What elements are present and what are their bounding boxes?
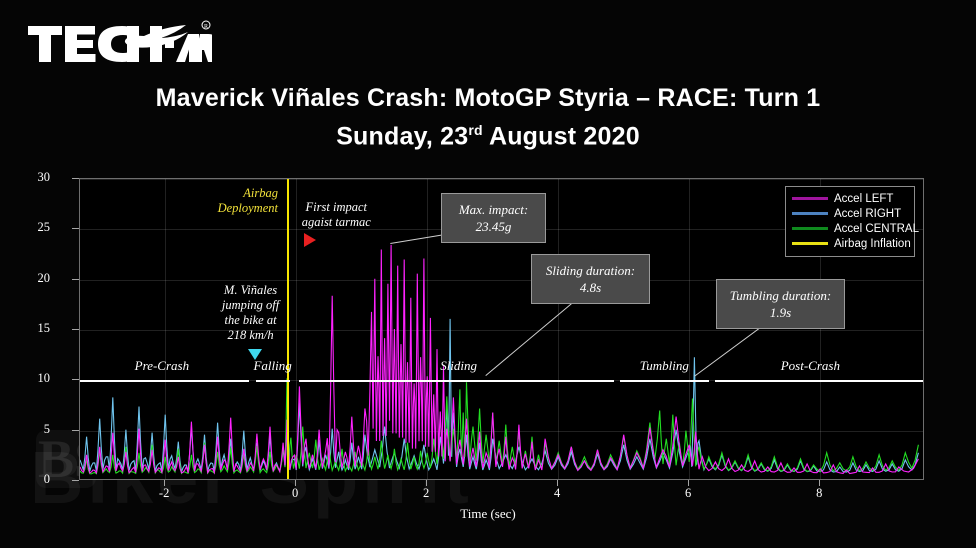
legend-label: Airbag Inflation [834,238,911,250]
title-date-post: August 2020 [483,122,640,150]
legend-item-airbag-inflation: Airbag Inflation [792,236,908,251]
x-axis-tick-mark [426,480,427,486]
legend-label: Accel CENTRAL [834,223,919,235]
phase-baseline-segment [80,380,249,382]
y-axis-tick-mark [72,480,79,481]
x-axis-tick-mark [688,480,689,486]
phase-label-tumbling: Tumbling [640,358,689,374]
chart-legend: Accel LEFTAccel RIGHTAccel CENTRALAirbag… [785,186,915,257]
techair-logo-mark: R [26,18,212,70]
x-axis-tick-label: -2 [144,486,184,501]
x-axis-tick-label: 2 [406,486,446,501]
annotation-jumping-off: M. Viñales jumping off the bike at 218 k… [208,283,294,343]
y-axis-tick-mark [72,430,79,431]
legend-swatch [792,212,828,215]
legend-item-accel-right: Accel RIGHT [792,206,908,221]
legend-item-accel-central: Accel CENTRAL [792,221,908,236]
phase-label-pre-crash: Pre-Crash [135,358,189,374]
x-axis-tick-mark [557,480,558,486]
techair-logo: R [26,18,212,70]
title-date-ordinal: rd [468,122,482,138]
phase-baseline-segment [620,380,708,382]
phase-label-falling: Falling [253,358,291,374]
callout-tumbling-duration: Tumbling duration: 1.9s [716,279,845,329]
y-axis-tick-mark [72,379,79,380]
legend-item-accel-left: Accel LEFT [792,191,908,206]
page-title-line2: Sunday, 23rd August 2020 [0,122,976,151]
x-axis-tick-label: 0 [275,486,315,501]
title-date-pre: Sunday, 23 [336,122,468,150]
legend-swatch [792,242,828,245]
phase-baseline-segment [715,380,924,382]
legend-label: Accel LEFT [834,193,893,205]
y-axis-tick-label: 10 [10,371,50,386]
slide-root: R Maverick Viñales Crash: MotoGP Styria … [0,0,976,548]
y-axis-tick-mark [72,329,79,330]
phase-baseline-segment [256,380,290,382]
phase-baseline-segment [299,380,614,382]
x-axis-tick-mark [819,480,820,486]
x-axis-tick-mark [164,480,165,486]
y-axis-tick-label: 20 [10,271,50,286]
annotation-first-impact: First impact agaist tarmac [281,200,391,230]
phase-label-sliding: Sliding [440,358,477,374]
y-axis-tick-label: 0 [10,472,50,487]
svg-text:R: R [204,24,208,30]
page-title-line1: Maverick Viñales Crash: MotoGP Styria – … [0,84,976,113]
callout-max-impact: Max. impact: 23.45g [441,193,546,243]
y-axis-tick-mark [72,178,79,179]
legend-swatch [792,197,828,200]
annotation-airbag-deployment: Airbag Deployment [186,186,278,216]
first-impact-marker-icon [304,233,316,247]
y-axis-tick-label: 15 [10,321,50,336]
x-axis-label: Time (sec) [0,506,976,522]
x-axis-tick-label: 8 [799,486,839,501]
legend-label: Accel RIGHT [834,208,901,220]
phase-label-post-crash: Post-Crash [781,358,840,374]
legend-swatch [792,227,828,230]
callout-sliding-duration: Sliding duration: 4.8s [531,254,650,304]
x-axis-tick-mark [295,480,296,486]
x-axis-tick-label: 4 [537,486,577,501]
y-axis-tick-label: 30 [10,170,50,185]
x-axis-tick-label: 6 [668,486,708,501]
y-axis-tick-mark [72,228,79,229]
y-axis-tick-label: 25 [10,220,50,235]
y-axis-tick-label: 5 [10,422,50,437]
jump-off-marker-icon [248,349,262,360]
y-axis-tick-mark [72,279,79,280]
